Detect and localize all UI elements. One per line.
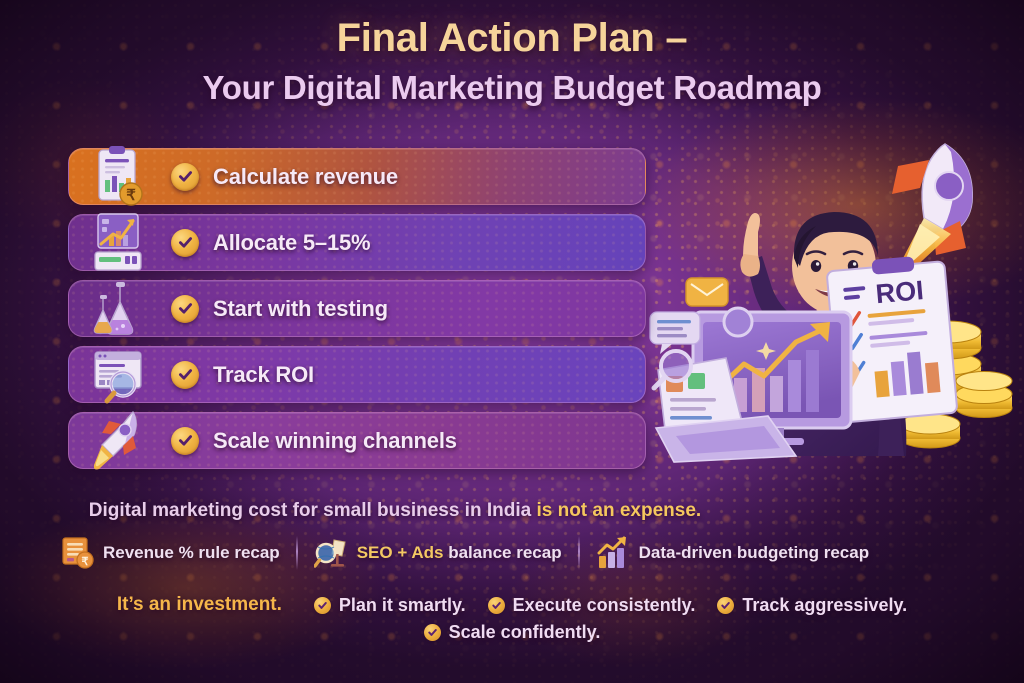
recap-item-data-driven-budgeting[interactable]: Data-driven budgeting recap [596,536,869,570]
check-circle-icon [171,229,199,257]
recap-item-label: SEO + Ads balance recap [357,543,562,563]
tagline-plain: Digital marketing cost for small busines… [89,500,537,521]
header: Final Action Plan – Your Digital Marketi… [0,16,1024,107]
recap-row: ₹ Revenue % rule recap SEO + Ads balance… [60,536,1020,570]
check-circle-icon [717,597,734,614]
checklist-item-track-roi[interactable]: Track ROI [68,346,646,403]
cta-item-label: Scale confidently. [449,622,601,643]
rocket-launch-icon [892,144,972,274]
cta-item-execute-consistently[interactable]: Execute consistently. [488,595,696,616]
check-circle-icon [424,624,441,641]
infographic-canvas: Final Action Plan – Your Digital Marketi… [0,0,1024,683]
svg-text:₹: ₹ [126,188,136,204]
cta-item-track-aggressively[interactable]: Track aggressively. [717,595,907,616]
checklist-item-label: Start with testing [213,296,388,322]
cta-investment-text: It’s an investment. [117,594,282,616]
recap-item-label: Data-driven budgeting recap [639,543,869,563]
recap-item-revenue-rule[interactable]: ₹ Revenue % rule recap [60,536,280,570]
cta-row: It’s an investment. Plan it smartly. Exe… [0,594,1024,649]
recap-item-seo-ads-balance[interactable]: SEO + Ads balance recap [314,536,562,570]
tagline: Digital marketing cost for small busines… [0,500,790,522]
dot-bubble-icon [724,308,752,336]
bar-chart-arrow-icon [596,536,630,570]
lab-flasks-icon [87,276,149,342]
clipboard-report-icon: ₹ [87,144,149,210]
action-plan-checklist: ₹ Calculate revenue [68,148,646,478]
checklist-item-label: Scale winning channels [213,428,457,454]
checklist-item-scale-channels[interactable]: Scale winning channels [68,412,646,469]
tagline-highlight: is not an expense. [536,500,701,521]
cta-line-primary: It’s an investment. Plan it smartly. Exe… [0,594,1024,616]
recap-separator [578,536,580,570]
check-circle-icon [171,295,199,323]
check-circle-icon [171,361,199,389]
checklist-item-label: Track ROI [213,362,314,388]
cta-line-secondary: Scale confidently. [0,622,1024,643]
recap-item-label: Revenue % rule recap [103,543,280,563]
check-circle-icon [314,597,331,614]
check-circle-icon [171,163,199,191]
check-circle-icon [488,597,505,614]
checklist-item-calculate-revenue[interactable]: ₹ Calculate revenue [68,148,646,205]
seo-magnifier-icon [314,536,348,570]
checklist-item-label: Allocate 5–15% [213,230,370,256]
cta-item-label: Execute consistently. [513,595,696,616]
checklist-item-allocate-budget[interactable]: Allocate 5–15% [68,214,646,271]
businessman-roi-illustration: ROI [648,126,1024,472]
growth-chart-icon [87,210,149,276]
revenue-document-icon: ₹ [60,536,94,570]
checklist-item-start-testing[interactable]: Start with testing [68,280,646,337]
page-title-secondary: Your Digital Marketing Budget Roadmap [0,69,1024,107]
check-circle-icon [171,427,199,455]
svg-text:₹: ₹ [82,556,89,568]
cta-item-label: Track aggressively. [742,595,907,616]
magnifier-report-icon [87,342,149,408]
cta-item-scale-confidently[interactable]: Scale confidently. [424,622,601,643]
checklist-item-label: Calculate revenue [213,164,398,190]
page-title-primary: Final Action Plan – [0,16,1024,61]
mail-bubble-icon [686,278,728,306]
cta-item-label: Plan it smartly. [339,595,466,616]
roi-clipboard-label: ROI [874,275,924,309]
rocket-icon [87,408,149,474]
cta-item-plan-smartly[interactable]: Plan it smartly. [314,595,466,616]
recap-separator [296,536,298,570]
